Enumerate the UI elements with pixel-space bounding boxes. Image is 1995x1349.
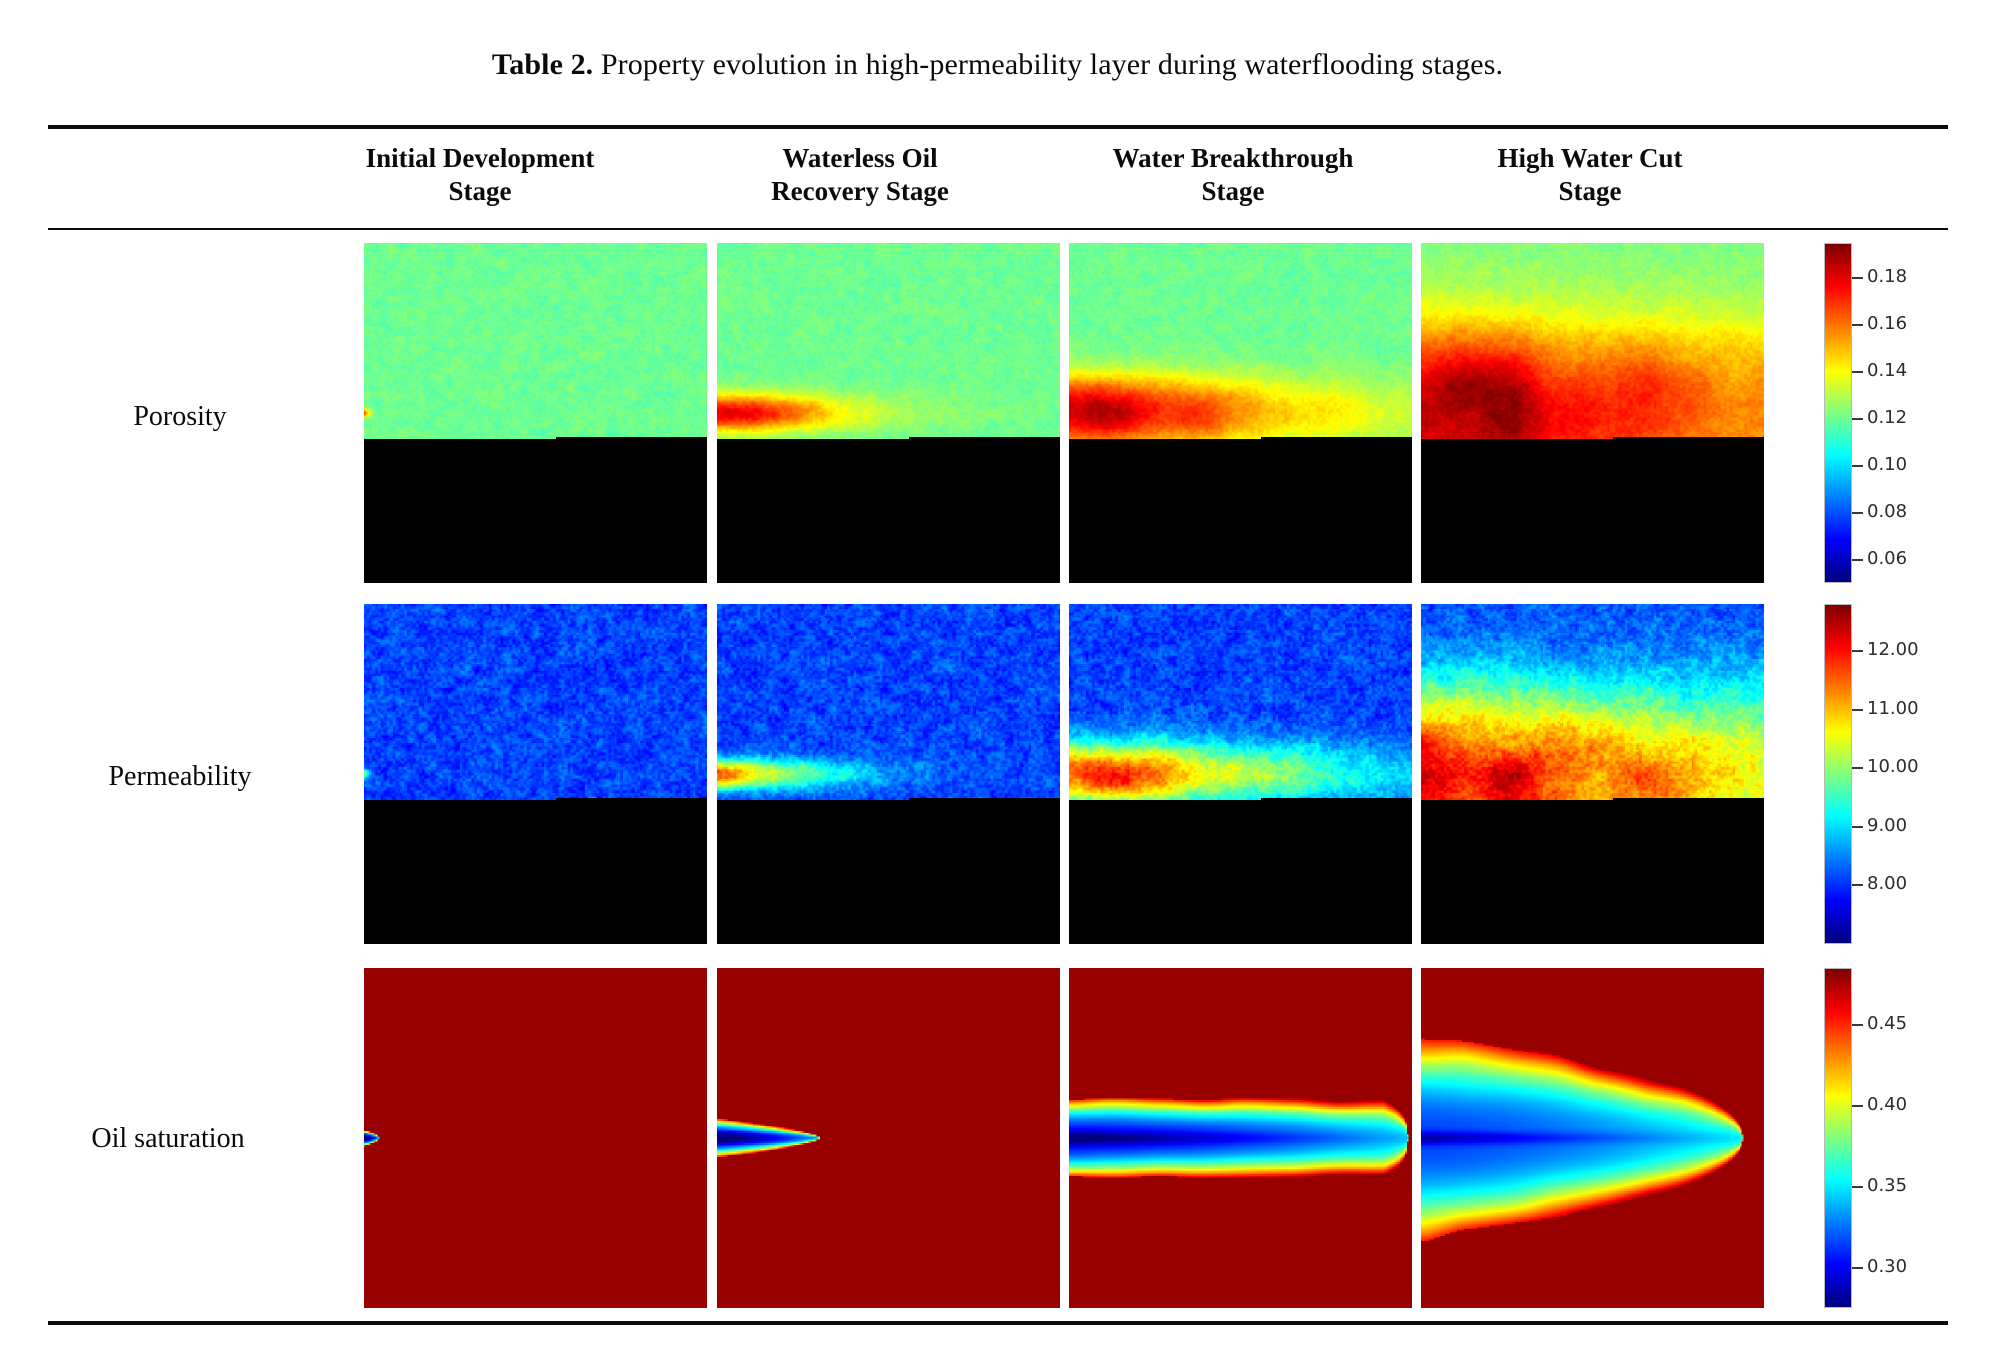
colorbar-tick-mark [1852, 1024, 1863, 1026]
colorbar-tick-label: 0.40 [1867, 1096, 1907, 1114]
heatmap-oil-saturation-initial-development [364, 968, 707, 1308]
table-top-rule [48, 125, 1948, 129]
table-header-row: Initial DevelopmentStage Waterless OilRe… [0, 142, 1995, 222]
table-header-rule [48, 228, 1948, 230]
colorbar-oil-saturation: 0.300.350.400.45 [1824, 968, 1974, 1308]
heatmap-permeability-waterless-oil-recovery [717, 604, 1060, 944]
heatmap-oil-saturation-high-water-cut [1421, 968, 1764, 1308]
table-bottom-rule [48, 1321, 1948, 1325]
colorbar-tick-mark [1852, 767, 1863, 769]
colorbar-permeability: 8.009.0010.0011.0012.00 [1824, 604, 1974, 944]
colorbar-oil-saturation-ticks: 0.300.350.400.45 [1852, 968, 1974, 1308]
caption-label: Table 2. [492, 48, 593, 81]
colorbar-tick-mark [1852, 650, 1863, 652]
heatmap-permeability-water-breakthrough [1069, 604, 1412, 944]
colorbar-tick-label: 0.10 [1867, 456, 1907, 474]
colorbar-tick-mark [1852, 277, 1863, 279]
colorbar-porosity: 0.060.080.100.120.140.160.18 [1824, 243, 1974, 583]
caption-text: Property evolution in high-permeability … [593, 48, 1503, 81]
colorbar-tick-label: 0.12 [1867, 409, 1907, 427]
colorbar-tick-label: 0.18 [1867, 268, 1907, 286]
colorbar-tick-label: 0.45 [1867, 1015, 1907, 1033]
colorbar-tick-mark [1852, 559, 1863, 561]
colorbar-tick-label: 11.00 [1867, 700, 1919, 718]
table-figure-page: Table 2. Property evolution in high-perm… [0, 0, 1995, 1349]
colorbar-tick-mark [1852, 324, 1863, 326]
column-header-high-water-cut-stage: High Water CutStage [1430, 142, 1750, 208]
colorbar-permeability-gradient [1824, 604, 1852, 944]
heatmap-permeability-initial-development [364, 604, 707, 944]
colorbar-tick-label: 0.35 [1867, 1177, 1907, 1195]
colorbar-tick-mark [1852, 512, 1863, 514]
heatmap-porosity-initial-development [364, 243, 707, 583]
column-header-waterless-oil-recovery-stage: Waterless OilRecovery Stage [700, 142, 1020, 208]
colorbar-tick-label: 0.14 [1867, 362, 1907, 380]
colorbar-tick-mark [1852, 709, 1863, 711]
colorbar-oil-saturation-gradient [1824, 968, 1852, 1308]
colorbar-porosity-ticks: 0.060.080.100.120.140.160.18 [1852, 243, 1974, 583]
colorbar-tick-label: 8.00 [1867, 875, 1907, 893]
heatmap-porosity-high-water-cut [1421, 243, 1764, 583]
colorbar-tick-label: 12.00 [1867, 641, 1919, 659]
colorbar-tick-mark [1852, 1105, 1863, 1107]
colorbar-tick-mark [1852, 418, 1863, 420]
row-label-oil-saturation: Oil saturation [18, 1122, 318, 1156]
heatmap-porosity-water-breakthrough [1069, 243, 1412, 583]
colorbar-tick-mark [1852, 465, 1863, 467]
colorbar-tick-mark [1852, 1267, 1863, 1269]
row-label-porosity: Porosity [30, 400, 330, 434]
colorbar-tick-mark [1852, 371, 1863, 373]
colorbar-tick-label: 0.08 [1867, 503, 1907, 521]
colorbar-tick-mark [1852, 1186, 1863, 1188]
colorbar-tick-label: 0.16 [1867, 315, 1907, 333]
table-caption: Table 2. Property evolution in high-perm… [0, 47, 1995, 83]
colorbar-tick-label: 0.30 [1867, 1258, 1907, 1276]
heatmap-oil-saturation-waterless-oil-recovery [717, 968, 1060, 1308]
colorbar-tick-label: 9.00 [1867, 817, 1907, 835]
colorbar-tick-mark [1852, 884, 1863, 886]
colorbar-tick-label: 0.06 [1867, 550, 1907, 568]
heatmap-porosity-waterless-oil-recovery [717, 243, 1060, 583]
row-label-permeability: Permeability [30, 760, 330, 794]
column-header-initial-development-stage: Initial DevelopmentStage [320, 142, 640, 208]
heatmap-oil-saturation-water-breakthrough [1069, 968, 1412, 1308]
colorbar-tick-mark [1852, 826, 1863, 828]
column-header-water-breakthrough-stage: Water BreakthroughStage [1058, 142, 1408, 208]
colorbar-tick-label: 10.00 [1867, 758, 1919, 776]
colorbar-porosity-gradient [1824, 243, 1852, 583]
heatmap-permeability-high-water-cut [1421, 604, 1764, 944]
colorbar-permeability-ticks: 8.009.0010.0011.0012.00 [1852, 604, 1974, 944]
